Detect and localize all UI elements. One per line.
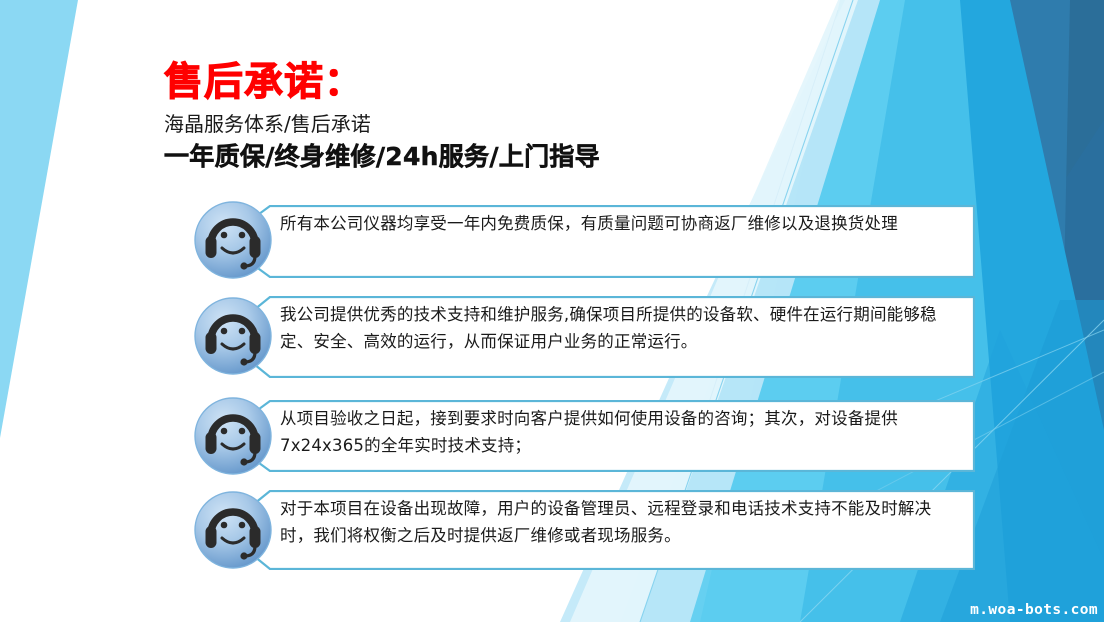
headset-support-avatar-icon bbox=[193, 396, 273, 476]
speech-bubble: 所有本公司仪器均享受一年内免费质保，有质量问题可协商返厂维修以及退换货处理 bbox=[240, 205, 975, 278]
speech-bubble: 我公司提供优秀的技术支持和维护服务,确保项目所提供的设备软、硬件在运行期间能够稳… bbox=[240, 296, 975, 378]
list-item-text: 对于本项目在设备出现故障，用户的设备管理员、远程登录和电话技术支持不能及时解决时… bbox=[240, 490, 975, 555]
breadcrumb: 海晶服务体系/售后承诺 bbox=[164, 113, 864, 136]
watermark: m.woa-bots.com bbox=[970, 602, 1098, 618]
speech-bubble: 从项目验收之日起，接到要求时向客户提供如何使用设备的咨询；其次，对设备提供7x2… bbox=[240, 400, 975, 472]
page-title: 售后承诺： bbox=[164, 62, 864, 104]
header-block: 售后承诺： 海晶服务体系/售后承诺 一年质保/终身维修/24h服务/上门指导 bbox=[164, 62, 864, 172]
headset-support-avatar-icon bbox=[193, 200, 273, 280]
list-item-text: 所有本公司仪器均享受一年内免费质保，有质量问题可协商返厂维修以及退换货处理 bbox=[240, 205, 975, 244]
speech-bubble: 对于本项目在设备出现故障，用户的设备管理员、远程登录和电话技术支持不能及时解决时… bbox=[240, 490, 975, 570]
slide-canvas: 售后承诺： 海晶服务体系/售后承诺 一年质保/终身维修/24h服务/上门指导 所… bbox=[0, 0, 1104, 622]
tagline: 一年质保/终身维修/24h服务/上门指导 bbox=[164, 143, 864, 172]
bg-shape-right-dark bbox=[985, 0, 1104, 622]
list-item-text: 我公司提供优秀的技术支持和维护服务,确保项目所提供的设备软、硬件在运行期间能够稳… bbox=[240, 296, 975, 361]
headset-support-avatar-icon bbox=[193, 296, 273, 376]
headset-support-avatar-icon bbox=[193, 490, 273, 570]
list-item-text: 从项目验收之日起，接到要求时向客户提供如何使用设备的咨询；其次，对设备提供7x2… bbox=[240, 400, 975, 465]
bg-shape-left-wedge-top bbox=[0, 0, 78, 438]
bg-shape-dark-triangle bbox=[960, 0, 1104, 340]
bg-shape-left-wedge bbox=[0, 0, 78, 438]
